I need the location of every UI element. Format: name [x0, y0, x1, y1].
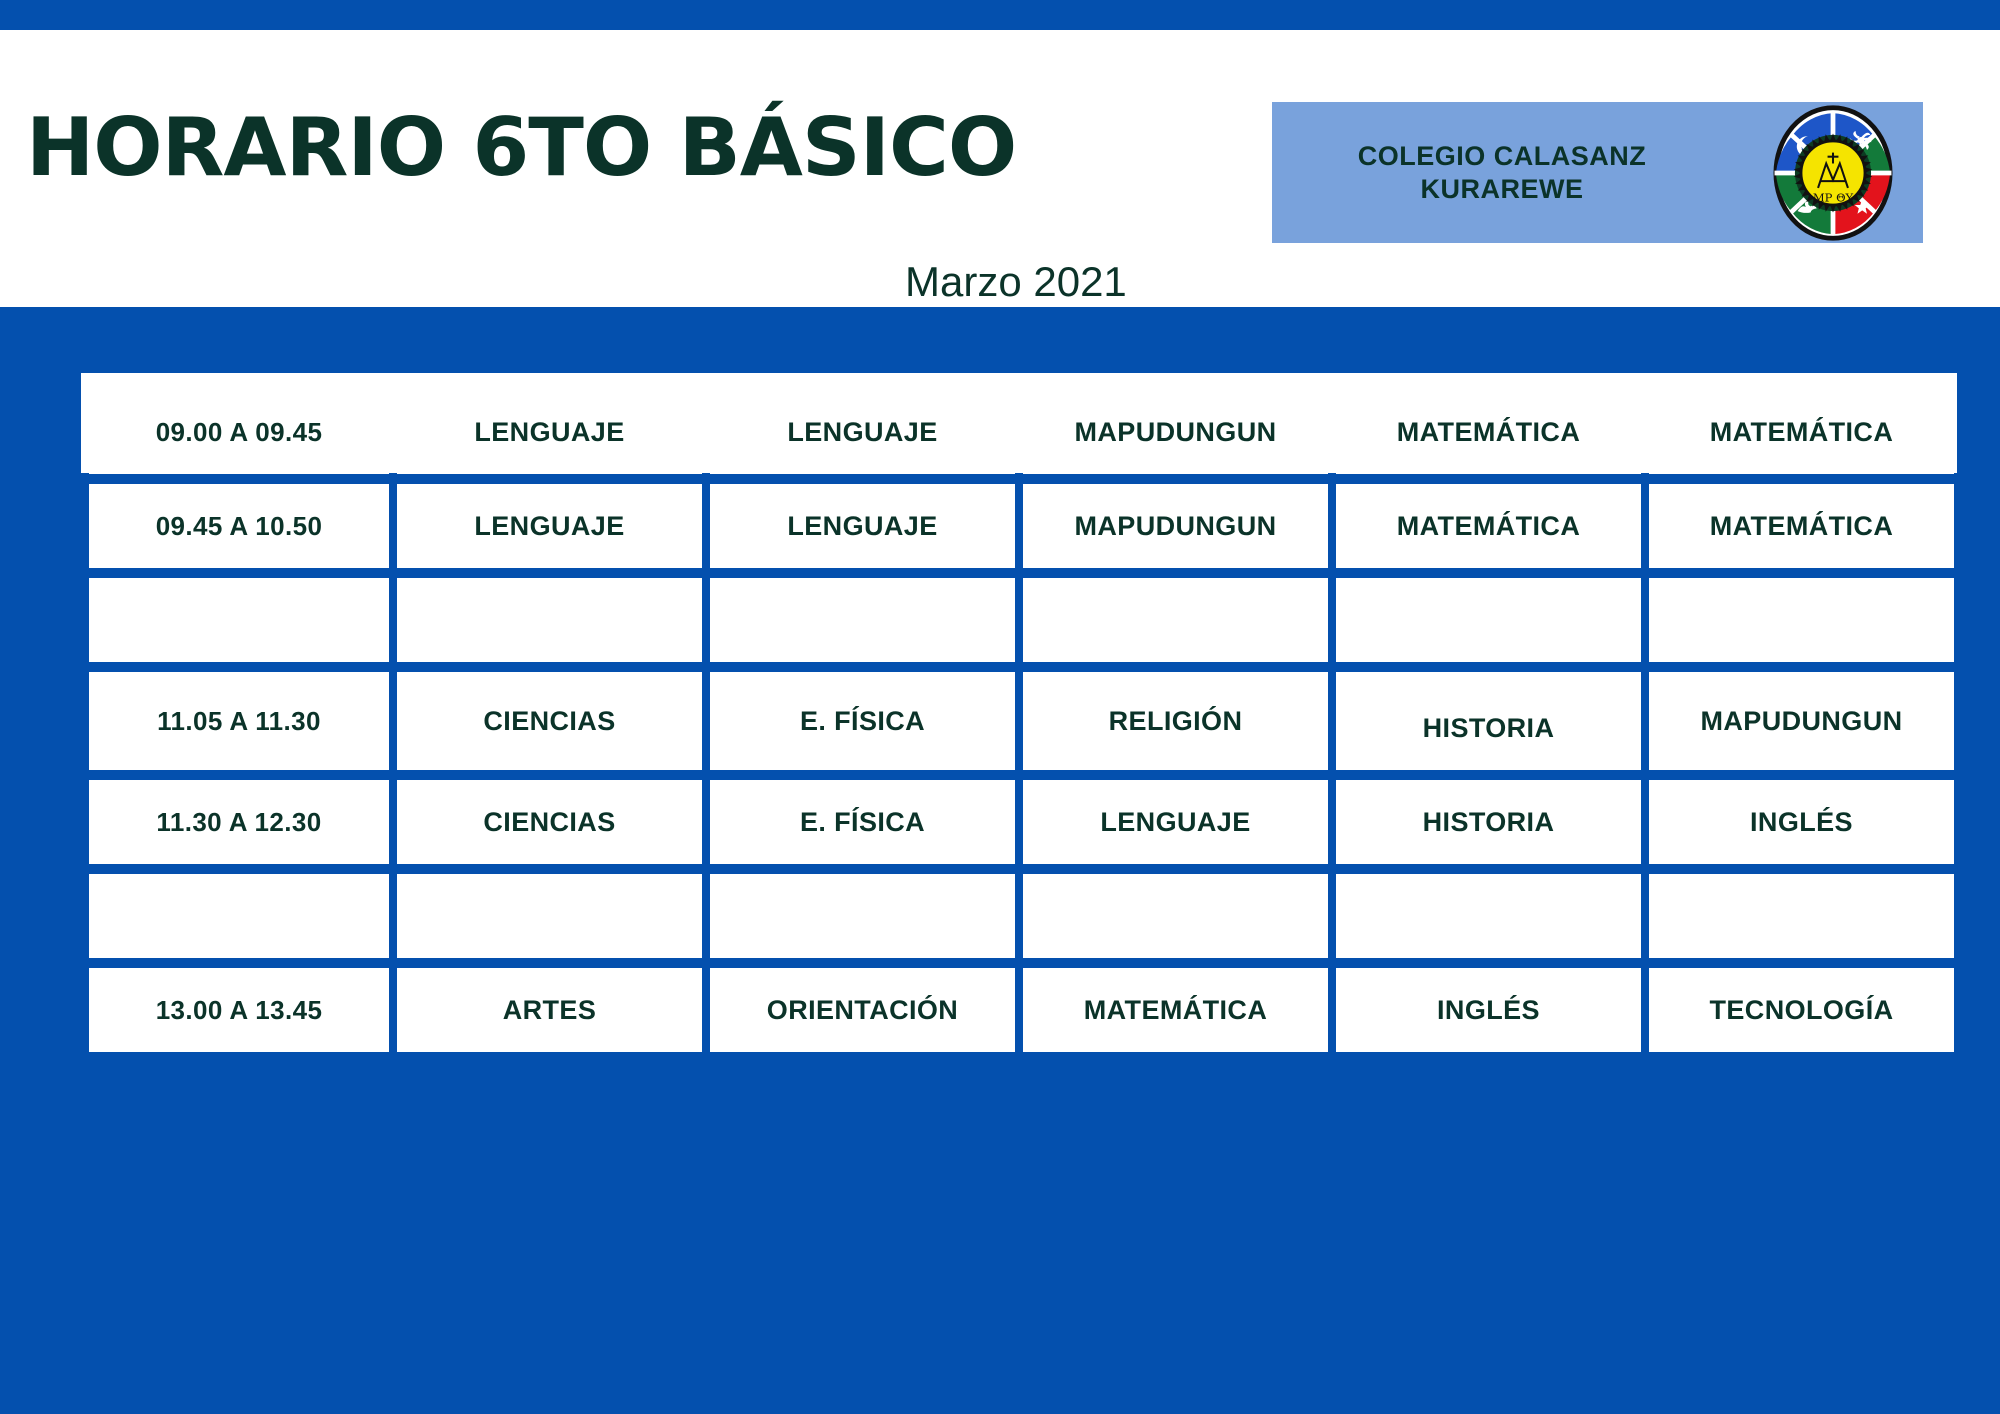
- cell-lunes: CIENCIAS: [397, 780, 702, 864]
- cell-hours: 09.00 A 09.45: [89, 390, 389, 474]
- cell-hours: 13.00 A 13.45: [89, 968, 389, 1052]
- cell-jueves: HISTORIA: [1336, 780, 1641, 864]
- schedule-poster: HORARIO 6TO BÁSICO Marzo 2021 COLEGIO CA…: [0, 0, 2000, 1414]
- table-row: 11.05 A 11.30 CIENCIAS E. FÍSICA RELIGIÓ…: [89, 672, 1954, 770]
- cell-hours: 09.45 A 10.50: [89, 484, 389, 568]
- cell-miercoles: LENGUAJE: [1023, 780, 1328, 864]
- cell-viernes: MAPUDUNGUN: [1649, 672, 1954, 770]
- cell-viernes: [1649, 874, 1954, 958]
- page-title: HORARIO 6TO BÁSICO: [26, 108, 1016, 188]
- cell-viernes: MATEMÁTICA: [1649, 390, 1954, 474]
- cell-miercoles: MATEMÁTICA: [1023, 968, 1328, 1052]
- cell-lunes: [397, 578, 702, 662]
- cell-lunes: LENGUAJE: [397, 390, 702, 474]
- cell-jueves: MATEMÁTICA: [1336, 484, 1641, 568]
- school-crest-icon: MP ΘΥ: [1765, 105, 1901, 241]
- cell-viernes: [1649, 578, 1954, 662]
- cell-martes: [710, 578, 1015, 662]
- cell-miercoles: MAPUDUNGUN: [1023, 390, 1328, 474]
- school-name-line2: KURAREWE: [1302, 173, 1702, 206]
- cell-viernes: MATEMÁTICA: [1649, 484, 1954, 568]
- cell-martes: E. FÍSICA: [710, 780, 1015, 864]
- cell-lunes: [397, 874, 702, 958]
- cell-miercoles: RELIGIÓN: [1023, 672, 1328, 770]
- cell-hours: 11.30 A 12.30: [89, 780, 389, 864]
- top-accent-bar: [0, 0, 2000, 30]
- cell-martes: E. FÍSICA: [710, 672, 1015, 770]
- schedule-table: 09.00 A 09.45 LENGUAJE LENGUAJE MAPUDUNG…: [81, 380, 1962, 1062]
- cell-miercoles: [1023, 578, 1328, 662]
- cell-miercoles: [1023, 874, 1328, 958]
- cell-hours: [89, 874, 389, 958]
- school-name-line1: COLEGIO CALASANZ: [1302, 140, 1702, 173]
- cell-hours: 11.05 A 11.30: [89, 672, 389, 770]
- table-row: 09.00 A 09.45 LENGUAJE LENGUAJE MAPUDUNG…: [89, 390, 1954, 474]
- cell-lunes: LENGUAJE: [397, 484, 702, 568]
- cell-jueves: MATEMÁTICA: [1336, 390, 1641, 474]
- cell-lunes: ARTES: [397, 968, 702, 1052]
- cell-lunes: CIENCIAS: [397, 672, 702, 770]
- cell-hours: [89, 578, 389, 662]
- cell-jueves: [1336, 578, 1641, 662]
- cell-jueves: [1336, 874, 1641, 958]
- table-row-break: [89, 578, 1954, 662]
- table-row: 09.45 A 10.50 LENGUAJE LENGUAJE MAPUDUNG…: [89, 484, 1954, 568]
- cell-jueves: INGLÉS: [1336, 968, 1641, 1052]
- school-logo-panel: COLEGIO CALASANZ KURAREWE: [1272, 102, 1923, 243]
- table-row-break: [89, 874, 1954, 958]
- poster-header: HORARIO 6TO BÁSICO Marzo 2021 COLEGIO CA…: [0, 30, 2000, 307]
- table-row: 13.00 A 13.45 ARTES ORIENTACIÓN MATEMÁTI…: [89, 968, 1954, 1052]
- cell-miercoles: MAPUDUNGUN: [1023, 484, 1328, 568]
- table-row: 11.30 A 12.30 CIENCIAS E. FÍSICA LENGUAJ…: [89, 780, 1954, 864]
- school-name: COLEGIO CALASANZ KURAREWE: [1302, 140, 1702, 207]
- page-subtitle: Marzo 2021: [905, 261, 1127, 303]
- cell-martes: LENGUAJE: [710, 484, 1015, 568]
- cell-viernes: INGLÉS: [1649, 780, 1954, 864]
- cell-martes: [710, 874, 1015, 958]
- cell-martes: LENGUAJE: [710, 390, 1015, 474]
- crest-motto: MP ΘΥ: [1813, 191, 1854, 205]
- cell-martes: ORIENTACIÓN: [710, 968, 1015, 1052]
- cell-viernes: TECNOLOGÍA: [1649, 968, 1954, 1052]
- cell-jueves: HISTORIA: [1336, 672, 1641, 770]
